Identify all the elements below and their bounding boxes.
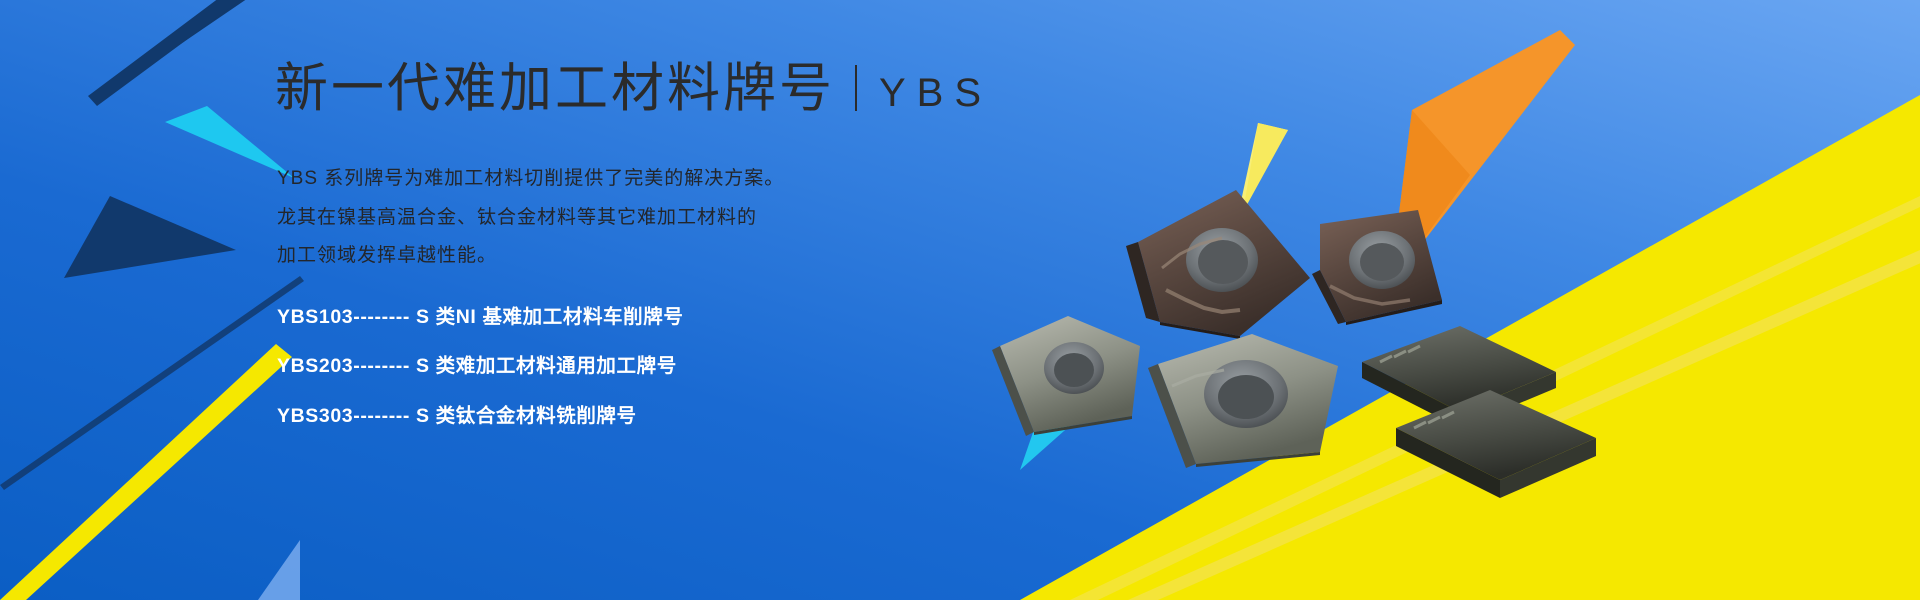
title-separator xyxy=(855,65,857,111)
banner-text-block: 新一代难加工材料牌号 YBS YBS 系列牌号为难加工材料切削提供了完美的解决方… xyxy=(275,0,1095,600)
model-list-item: YBS103-------- S 类NI 基难加工材料车削牌号 xyxy=(277,306,1077,329)
brand-name: YBS xyxy=(879,73,992,115)
description-line: 龙其在镍基高温合金、钛合金材料等其它难加工材料的 xyxy=(277,205,1077,231)
model-list: YBS103-------- S 类NI 基难加工材料车削牌号 YBS203--… xyxy=(277,306,1077,454)
square-milling-insert xyxy=(1148,334,1338,468)
model-list-item: YBS303-------- S 类钛合金材料铣削牌号 xyxy=(277,405,1077,428)
product-photo xyxy=(990,150,1650,600)
product-banner: 新一代难加工材料牌号 YBS YBS 系列牌号为难加工材料切削提供了完美的解决方… xyxy=(0,0,1920,600)
model-list-item: YBS203-------- S 类难加工材料通用加工牌号 xyxy=(277,355,1077,378)
page-title: 新一代难加工材料牌号 xyxy=(275,62,835,115)
description-block: YBS 系列牌号为难加工材料切削提供了完美的解决方案。 龙其在镍基高温合金、钛合… xyxy=(277,166,1077,282)
banner-title: 新一代难加工材料牌号 YBS xyxy=(275,62,992,115)
pentagon-milling-insert xyxy=(992,316,1140,436)
cnmg-turning-insert xyxy=(1312,210,1442,325)
description-line: YBS 系列牌号为难加工材料切削提供了完美的解决方案。 xyxy=(277,166,1077,192)
description-line: 加工领域发挥卓越性能。 xyxy=(277,243,1077,269)
wnmg-turning-insert xyxy=(1126,190,1310,339)
